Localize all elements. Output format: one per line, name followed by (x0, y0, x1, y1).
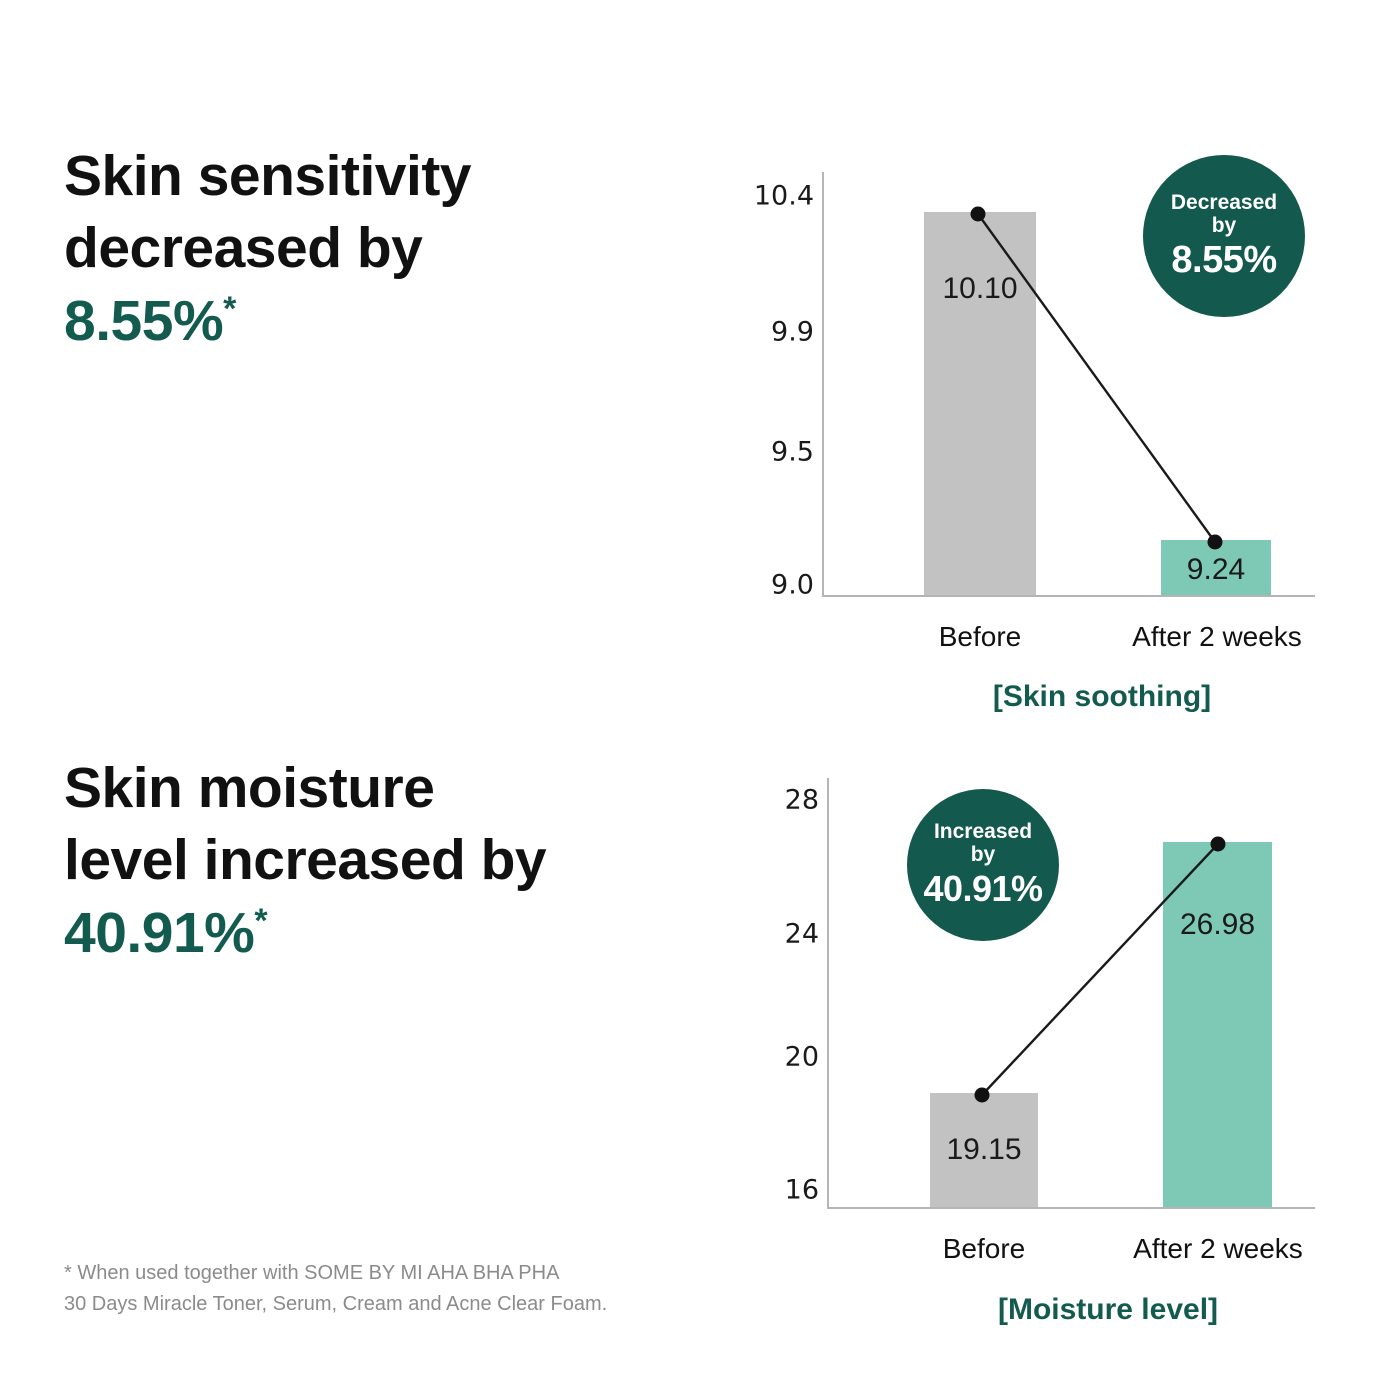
chart-1-y-axis (822, 172, 824, 596)
headline-2-value: 40.91% (64, 901, 254, 965)
chart-1-bar-before-value: 10.10 (924, 274, 1036, 304)
chart-2-caption: [Moisture level] (998, 1293, 1218, 1327)
headline-2-line-2: level increased by (64, 824, 546, 896)
chart-2-plot-area: 28 24 20 16 19.15 26.98 Before After 2 w… (745, 760, 1365, 1340)
chart-1-xlabel-after: After 2 weeks (1132, 623, 1302, 651)
chart-1-plot-area: 10.4 9.9 9.5 9.0 10.10 9.24 Before After… (740, 150, 1360, 730)
headline-skin-moisture: Skin moisture level increased by 40.91%* (64, 752, 546, 970)
headline-2-asterisk: * (254, 902, 267, 940)
chart-2-x-axis (827, 1207, 1315, 1209)
chart-skin-soothing: 10.4 9.9 9.5 9.0 10.10 9.24 Before After… (740, 150, 1360, 730)
chart-2-bar-before-value: 19.15 (930, 1135, 1038, 1165)
headline-skin-sensitivity: Skin sensitivity decreased by 8.55%* (64, 140, 471, 358)
headline-1-value: 8.55% (64, 289, 223, 353)
chart-2-badge-value: 40.91% (923, 868, 1042, 910)
chart-2-y-axis (827, 778, 829, 1208)
headline-1-value-row: 8.55%* (64, 284, 471, 358)
chart-2-bar-before: 19.15 (930, 1093, 1038, 1207)
chart-1-ytick-0: 10.4 (748, 183, 814, 210)
chart-1-ytick-3: 9.0 (748, 572, 814, 599)
chart-1-x-axis (822, 595, 1315, 597)
chart-2-ytick-1: 24 (753, 921, 819, 948)
chart-1-ytick-2: 9.5 (748, 439, 814, 466)
chart-2-bar-after-value: 26.98 (1163, 910, 1272, 940)
headline-2-value-row: 40.91%* (64, 896, 546, 970)
chart-moisture-level: 28 24 20 16 19.15 26.98 Before After 2 w… (745, 760, 1365, 1340)
headline-1-line-1: Skin sensitivity (64, 140, 471, 212)
chart-2-ytick-0: 28 (753, 787, 819, 814)
footnote: * When used together with SOME BY MI AHA… (64, 1258, 607, 1320)
chart-2-ytick-2: 20 (753, 1044, 819, 1071)
footnote-line-2: 30 Days Miracle Toner, Serum, Cream and … (64, 1289, 607, 1320)
chart-1-badge-top-line-2: by (1212, 214, 1237, 237)
headline-1-asterisk: * (223, 290, 236, 328)
chart-1-xlabel-before: Before (939, 623, 1022, 651)
chart-1-caption: [Skin soothing] (993, 680, 1211, 714)
chart-1-badge-top-line-1: Decreased (1171, 191, 1277, 214)
chart-2-bar-after: 26.98 (1163, 842, 1272, 1207)
chart-1-badge-decreased: Decreased by 8.55% (1143, 155, 1305, 317)
chart-1-badge-value: 8.55% (1171, 239, 1276, 281)
chart-2-ytick-3: 16 (753, 1177, 819, 1204)
chart-1-bar-after-value: 9.24 (1161, 555, 1271, 585)
chart-2-badge-top-line-2: by (971, 843, 996, 866)
chart-2-xlabel-after: After 2 weeks (1133, 1235, 1303, 1263)
headline-2-line-1: Skin moisture (64, 752, 546, 824)
chart-1-bar-after: 9.24 (1161, 540, 1271, 595)
chart-2-badge-top-line-1: Increased (934, 820, 1032, 843)
footnote-line-1: * When used together with SOME BY MI AHA… (64, 1258, 607, 1289)
chart-2-badge-increased: Increased by 40.91% (907, 789, 1059, 941)
chart-1-bar-before: 10.10 (924, 212, 1036, 595)
chart-2-xlabel-before: Before (943, 1235, 1026, 1263)
headline-1-line-2: decreased by (64, 212, 471, 284)
chart-1-ytick-1: 9.9 (748, 319, 814, 346)
